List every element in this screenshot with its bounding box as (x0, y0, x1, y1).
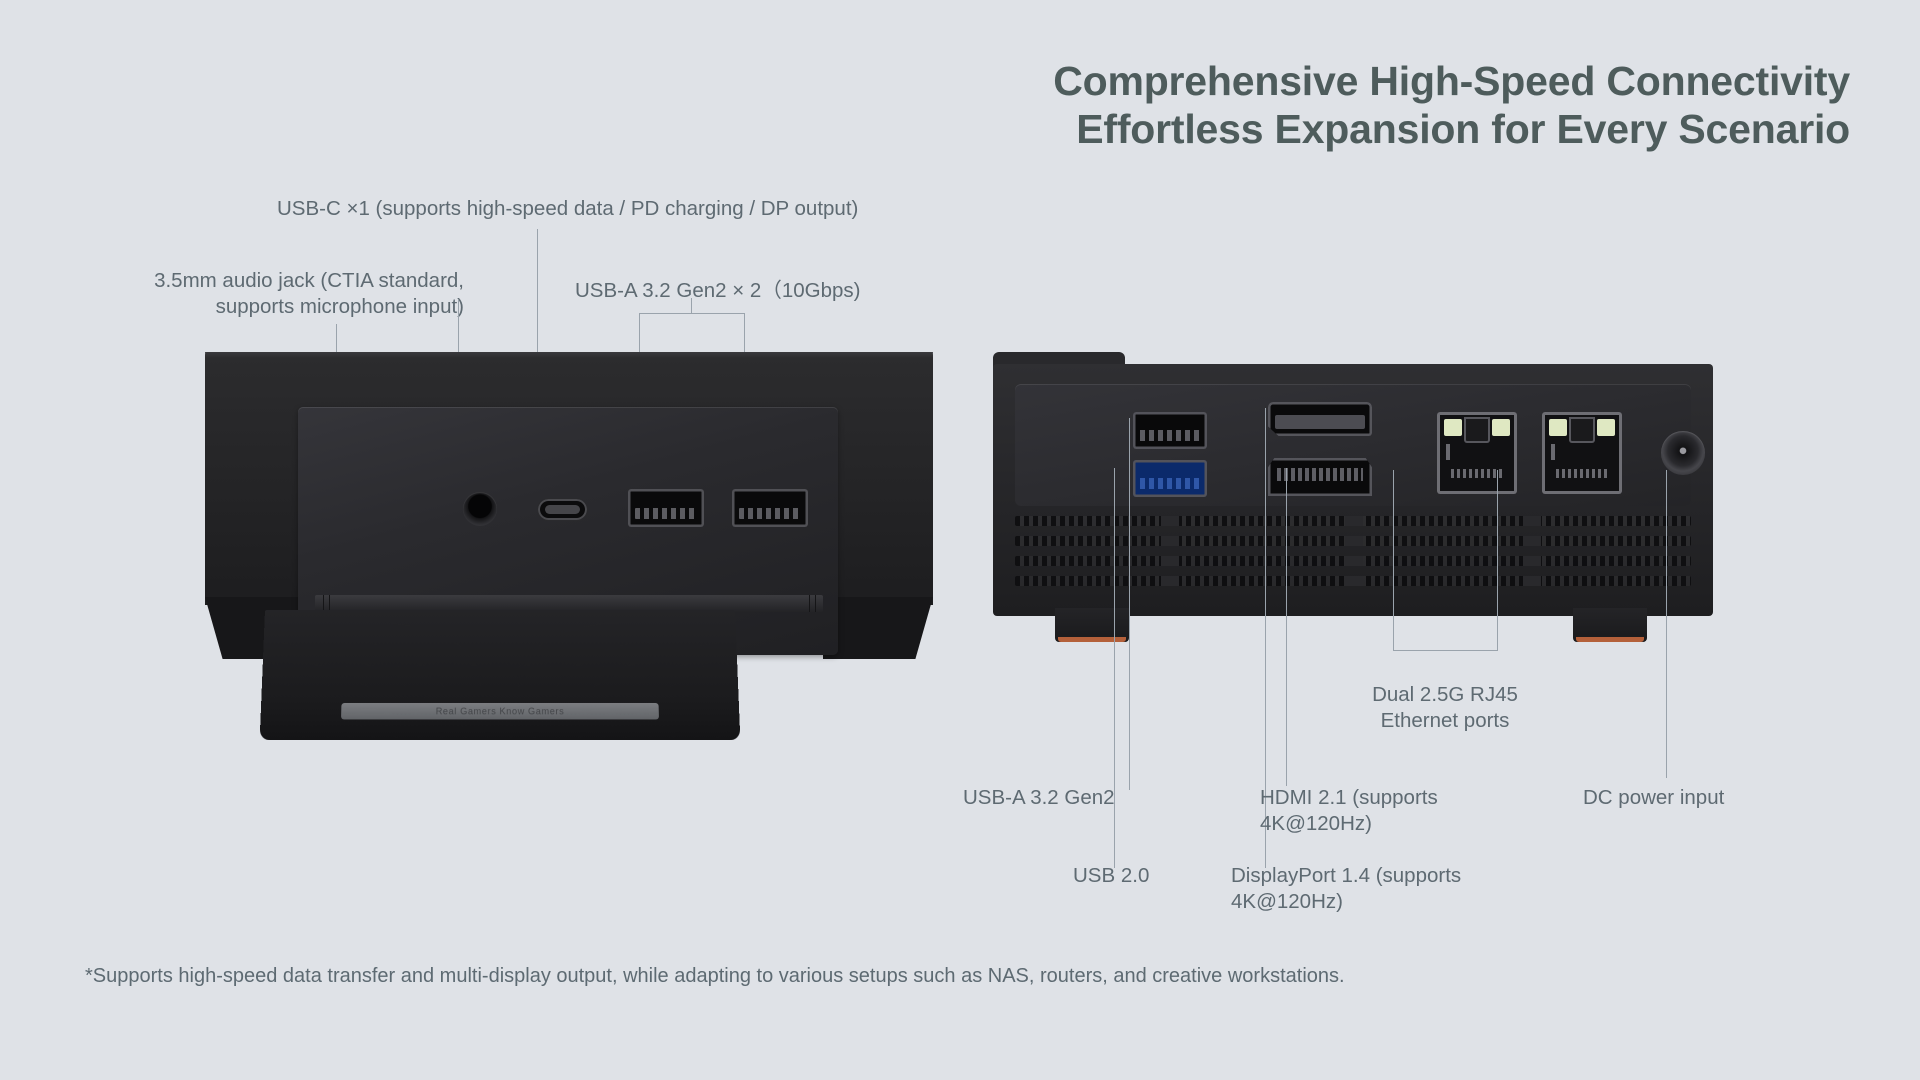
footnote-text: *Supports high-speed data transfer and m… (85, 965, 1345, 988)
product-connectivity-diagram: Comprehensive High-Speed Connectivity Ef… (0, 0, 1920, 1080)
usb-a-port-2-icon (732, 489, 808, 527)
rj45-led-left (1549, 419, 1567, 436)
rj45-led-left (1444, 419, 1462, 436)
rear-device-render (993, 352, 1713, 662)
displayport-port-icon (1268, 402, 1372, 436)
rj45-led-right (1492, 419, 1510, 436)
hdmi-port-icon (1268, 458, 1372, 496)
rj45-port-1-icon (1437, 412, 1517, 494)
callout-dc-power: DC power input (1583, 785, 1823, 811)
leader-line-rj45-1 (1393, 470, 1394, 650)
callout-usb-c: USB-C ×1 (supports high-speed data / PD … (277, 196, 977, 222)
leader-line-dc-power (1666, 470, 1667, 778)
leader-line-usb-a-rear (1129, 418, 1130, 790)
rj45-led-right (1597, 419, 1615, 436)
usb-2-port-icon (1133, 460, 1207, 497)
rj45-port-2-icon (1542, 412, 1622, 494)
usb-a-port-1-icon (628, 489, 704, 527)
callout-usb-a-rear: USB-A 3.2 Gen2 (963, 785, 1243, 811)
usb-a-rear-port-icon (1133, 412, 1207, 449)
usb-c-port-icon (538, 499, 587, 520)
callout-audio-jack: 3.5mm audio jack (CTIA standard, support… (64, 268, 464, 320)
page-title-line-2: Effortless Expansion for Every Scenario (1053, 106, 1850, 154)
audio-jack-port-icon (463, 492, 497, 526)
front-chassis-skirt-right (823, 597, 933, 659)
leader-line-rj45-bracket (1393, 650, 1498, 651)
callout-ethernet: Dual 2.5G RJ45 Ethernet ports (1325, 682, 1565, 734)
callout-displayport: DisplayPort 1.4 (supports 4K@120Hz) (1231, 863, 1531, 915)
page-title: Comprehensive High-Speed Connectivity Ef… (1053, 58, 1850, 154)
rj45-tab (1569, 417, 1595, 443)
rj45-tab (1464, 417, 1490, 443)
rear-vent-grille (1015, 516, 1691, 606)
rj45-slot (1446, 444, 1450, 460)
callout-hdmi: HDMI 2.1 (supports 4K@120Hz) (1260, 785, 1520, 837)
rj45-pins (1556, 469, 1608, 478)
rj45-slot (1551, 444, 1555, 460)
leader-line-usb-a-stem (691, 298, 692, 314)
front-device-render: Real Gamers Know Gamers (205, 352, 933, 752)
rear-foot-right (1573, 608, 1647, 642)
front-stand: Real Gamers Know Gamers (260, 610, 741, 740)
rj45-pins (1451, 469, 1503, 478)
dc-power-port-icon (1661, 431, 1705, 475)
callout-usb-a-front: USB-A 3.2 Gen2 × 2（10Gbps) (575, 278, 975, 304)
stand-badge: Real Gamers Know Gamers (341, 703, 659, 719)
leader-line-hdmi (1286, 468, 1287, 786)
leader-line-rj45-2 (1497, 470, 1498, 650)
page-title-line-1: Comprehensive High-Speed Connectivity (1053, 58, 1850, 104)
rear-foot-left (1055, 608, 1129, 642)
rear-io-panel (1015, 384, 1691, 506)
rear-chassis (993, 364, 1713, 616)
